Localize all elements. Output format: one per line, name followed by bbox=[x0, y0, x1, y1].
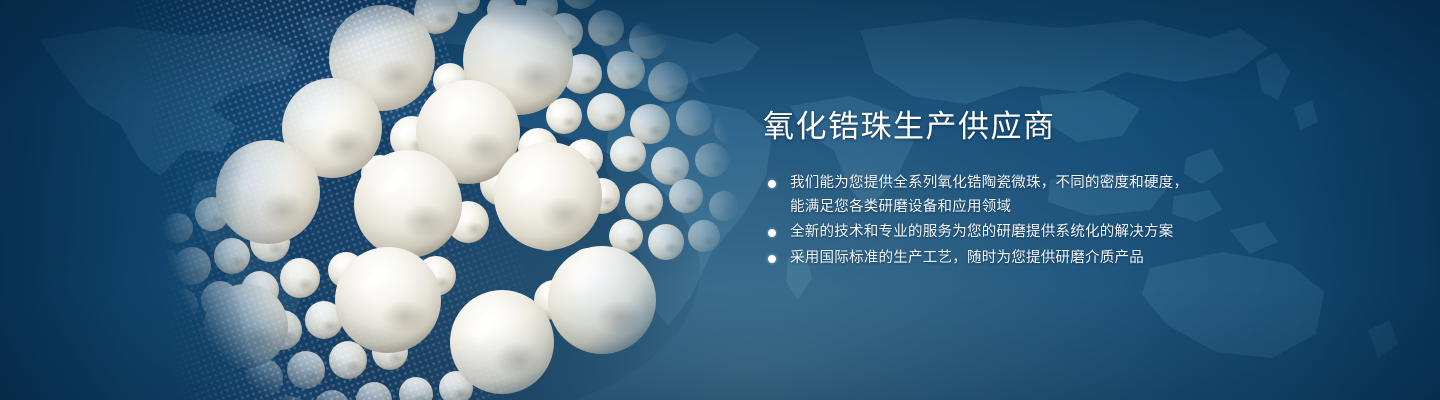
hero-banner: 氧化锆珠生产供应商 我们能为您提供全系列氧化锆陶瓷微珠，不同的密度和硬度， 能满… bbox=[0, 0, 1440, 400]
feature-bullet-1: 我们能为您提供全系列氧化锆陶瓷微珠，不同的密度和硬度， 能满足您各类研磨设备和应… bbox=[763, 172, 1283, 219]
feature-bullet-1-line-1: 我们能为您提供全系列氧化锆陶瓷微珠，不同的密度和硬度， bbox=[790, 172, 1283, 196]
feature-bullet-1-line-2: 能满足您各类研磨设备和应用领域 bbox=[790, 196, 1283, 220]
feature-bullet-3-line-1: 采用国际标准的生产工艺，随时为您提供研磨介质产品 bbox=[790, 247, 1283, 271]
bullet-dot-icon bbox=[768, 255, 776, 263]
feature-bullet-2-line-1: 全新的技术和专业的服务为您的研磨提供系统化的解决方案 bbox=[790, 221, 1283, 245]
feature-bullet-list: 我们能为您提供全系列氧化锆陶瓷微珠，不同的密度和硬度， 能满足您各类研磨设备和应… bbox=[763, 172, 1283, 270]
bullet-dot-icon bbox=[768, 229, 776, 237]
feature-bullet-2: 全新的技术和专业的服务为您的研磨提供系统化的解决方案 bbox=[763, 221, 1283, 245]
banner-text-column: 氧化锆珠生产供应商 我们能为您提供全系列氧化锆陶瓷微珠，不同的密度和硬度， 能满… bbox=[763, 108, 1283, 272]
feature-bullet-3: 采用国际标准的生产工艺，随时为您提供研磨介质产品 bbox=[763, 247, 1283, 271]
bullet-dot-icon bbox=[768, 180, 776, 188]
banner-headline: 氧化锆珠生产供应商 bbox=[763, 108, 1283, 146]
